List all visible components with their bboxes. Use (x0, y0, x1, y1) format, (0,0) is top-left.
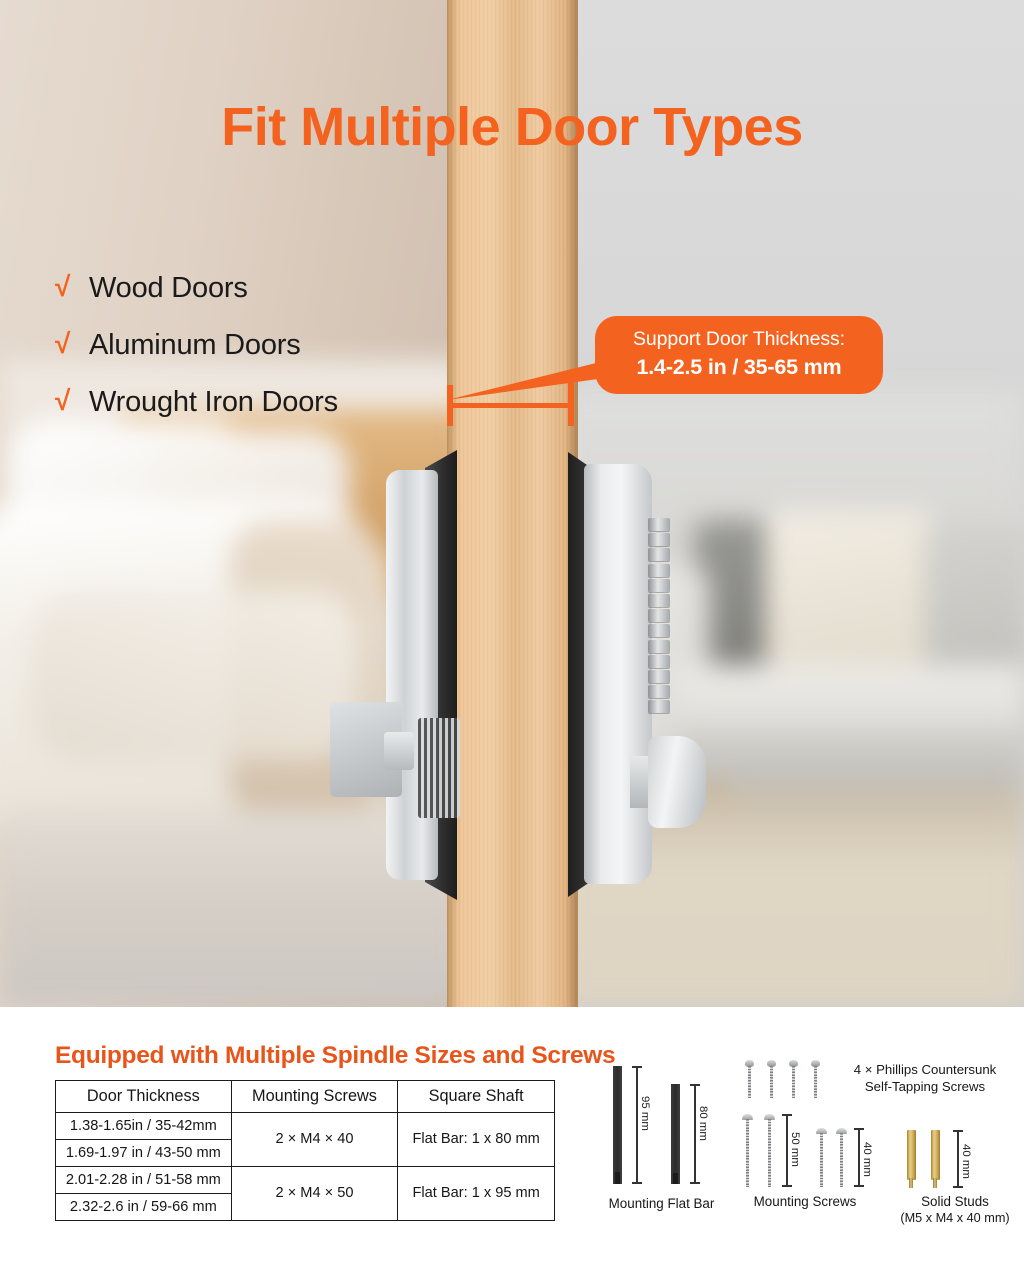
dimension-50mm (786, 1114, 788, 1187)
cell-square-shaft: Flat Bar: 1 x 95 mm (398, 1167, 555, 1221)
checklist-item-label: Wood Doors (89, 272, 248, 305)
countersunk-screws-label: 4 × Phillips Countersunk Self-Tapping Sc… (830, 1062, 1020, 1095)
dimension-95mm (636, 1066, 638, 1184)
dimension-line (447, 403, 574, 408)
mounting-screw-shank (840, 1133, 843, 1187)
check-icon: √ (55, 330, 89, 358)
checklist-item: √ Aluminum Doors (55, 329, 435, 362)
dimension-80mm (694, 1084, 696, 1184)
cell-door-thickness: 2.32-2.6 in / 59-66 mm (56, 1194, 232, 1221)
smart-lock-hardware (330, 440, 730, 920)
door-thickness-callout: Support Door Thickness: 1.4-2.5 in / 35-… (595, 316, 883, 394)
column-header-square-shaft: Square Shaft (398, 1081, 555, 1113)
mounting-screw-shank (768, 1119, 771, 1187)
keypad-key (648, 700, 670, 713)
mounting-screws-caption: Mounting Screws (730, 1194, 880, 1209)
cell-door-thickness: 2.01-2.28 in / 51-58 mm (56, 1167, 232, 1194)
keypad-key (648, 609, 670, 622)
keypad-key (648, 594, 670, 607)
dimension-40mm-studs (957, 1130, 959, 1188)
countersunk-screw-shank (770, 1066, 773, 1098)
checklist-item: √ Wood Doors (55, 272, 435, 305)
duvet-fold (30, 590, 360, 760)
door-type-checklist: √ Wood Doors √ Aluminum Doors √ Wrought … (55, 272, 435, 443)
mounting-screws-long-label: 50 mm (789, 1132, 801, 1167)
solid-stud-tip (933, 1178, 937, 1188)
solid-studs-caption: Solid Studs (875, 1194, 1024, 1209)
table-row: 2.01-2.28 in / 51-58 mm 2 × M4 × 50 Flat… (56, 1167, 555, 1194)
flat-bar-long-label: 95 mm (639, 1096, 651, 1131)
table-header-row: Door Thickness Mounting Screws Square Sh… (56, 1081, 555, 1113)
lever-knurled-grip (418, 718, 460, 818)
flat-bar-short-label: 80 mm (697, 1106, 709, 1141)
lock-exterior-panel (584, 464, 652, 884)
column-header-mounting-screws: Mounting Screws (231, 1081, 398, 1113)
check-icon: √ (55, 273, 89, 301)
column-header-door-thickness: Door Thickness (56, 1081, 232, 1113)
flat-bar-80mm-foot (673, 1173, 678, 1184)
keypad-key (648, 655, 670, 668)
flat-bar-95mm (613, 1066, 622, 1184)
cell-mounting-screws: 2 × M4 × 40 (231, 1113, 398, 1167)
spec-table: Door Thickness Mounting Screws Square Sh… (55, 1080, 555, 1221)
solid-stud (907, 1130, 916, 1180)
keypad-key (648, 548, 670, 561)
checklist-item: √ Wrought Iron Doors (55, 386, 435, 419)
mounting-screw-shank (820, 1133, 823, 1187)
keypad-key (648, 640, 670, 653)
countersunk-label-line1: 4 × Phillips Countersunk (830, 1062, 1020, 1079)
flat-bar-95mm-foot (615, 1172, 620, 1184)
parts-diagram: 95 mm 80 mm Mounting Flat Bar 4 × Philli… (575, 1052, 1024, 1252)
check-icon: √ (55, 387, 89, 415)
exterior-thumbturn-knob (648, 736, 706, 828)
sofa-cushion-light (765, 510, 935, 670)
keypad-key (648, 579, 670, 592)
keypad-key (648, 518, 670, 531)
sofa-cushion-right (925, 525, 1024, 670)
lever-stem (384, 732, 414, 770)
solid-stud (931, 1130, 940, 1180)
keypad-key (648, 564, 670, 577)
callout-title: Support Door Thickness: (611, 328, 867, 351)
cell-door-thickness: 1.69-1.97 in / 43-50 mm (56, 1140, 232, 1167)
solid-stud-tip (909, 1178, 913, 1188)
keypad-key (648, 533, 670, 546)
lock-interior-panel (386, 470, 438, 880)
checklist-item-label: Wrought Iron Doors (89, 386, 338, 419)
keypad-key (648, 670, 670, 683)
countersunk-label-line2: Self-Tapping Screws (830, 1079, 1020, 1096)
countersunk-screw-shank (792, 1066, 795, 1098)
cell-door-thickness: 1.38-1.65in / 35-42mm (56, 1113, 232, 1140)
mounting-screws-short-label: 40 mm (861, 1142, 873, 1177)
specs-panel: Equipped with Multiple Spindle Sizes and… (0, 1007, 1024, 1280)
hero-photo: Fit Multiple Door Types √ Wood Doors √ A… (0, 0, 1024, 1007)
flat-bar-80mm (671, 1084, 680, 1184)
checklist-item-label: Aluminum Doors (89, 329, 301, 362)
flat-bar-caption: Mounting Flat Bar (589, 1196, 734, 1211)
mounting-screw-shank (746, 1119, 749, 1187)
countersunk-screw-shank (814, 1066, 817, 1098)
keypad-buttons (648, 518, 670, 718)
page-title: Fit Multiple Door Types (0, 96, 1024, 158)
specs-section-title: Equipped with Multiple Spindle Sizes and… (55, 1042, 615, 1070)
solid-stud-label: 40 mm (960, 1144, 972, 1179)
dimension-40mm-screws (858, 1128, 860, 1187)
product-infographic: Fit Multiple Door Types √ Wood Doors √ A… (0, 0, 1024, 1280)
solid-studs-sub-caption: (M5 x M4 x 40 mm) (867, 1211, 1024, 1225)
cell-mounting-screws: 2 × M4 × 50 (231, 1167, 398, 1221)
keypad-key (648, 685, 670, 698)
keypad-key (648, 624, 670, 637)
callout-value: 1.4-2.5 in / 35-65 mm (611, 355, 867, 380)
countersunk-screw-shank (748, 1066, 751, 1098)
table-row: 1.38-1.65in / 35-42mm 2 × M4 × 40 Flat B… (56, 1113, 555, 1140)
cell-square-shaft: Flat Bar: 1 x 80 mm (398, 1113, 555, 1167)
mounting-flat-bar-group: 95 mm 80 mm Mounting Flat Bar (595, 1060, 735, 1210)
